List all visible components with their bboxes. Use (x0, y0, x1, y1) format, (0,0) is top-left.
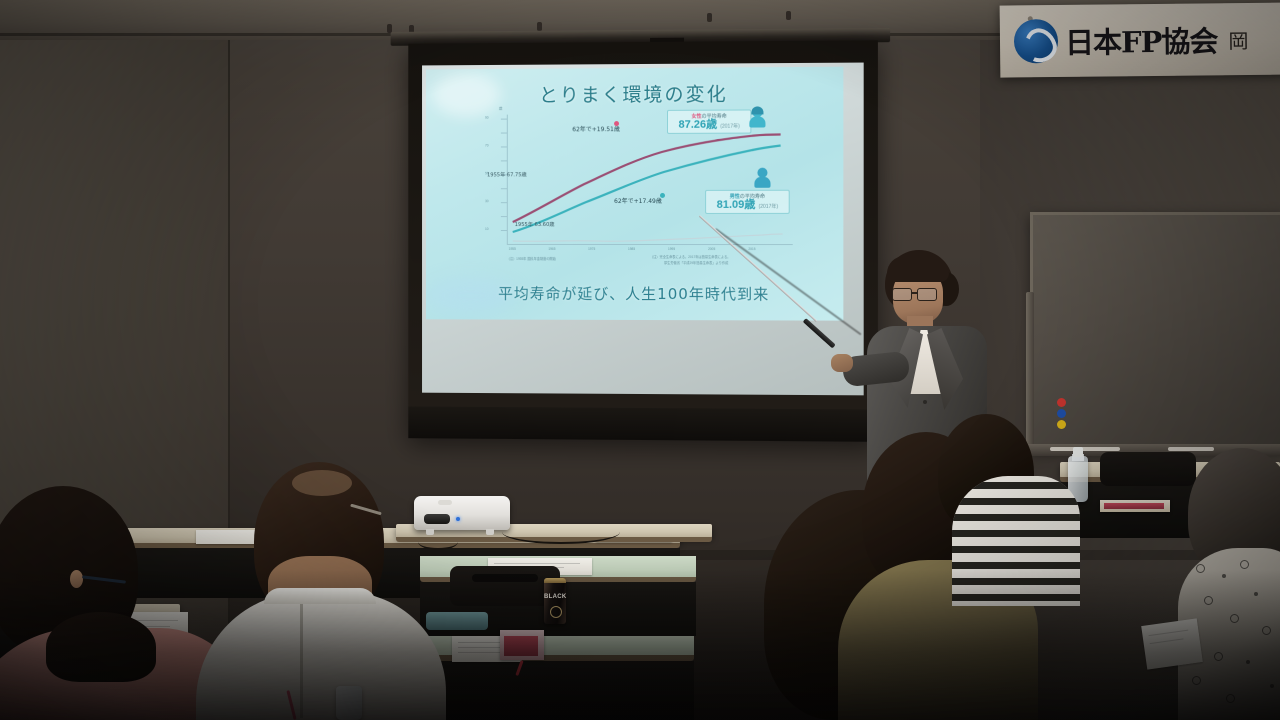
annotation-male-growth: 62年で+17.49歳 (614, 196, 662, 205)
callout-female-life-expectancy: 女性の平均寿命 87.26歳 (2017年) (667, 109, 751, 133)
projector-lid-vent (438, 500, 452, 505)
screen-frame: とりまく環境の変化 歳 90 70 (408, 40, 878, 442)
eyeglasses-icon (917, 288, 937, 301)
fp-association-logo-icon (1014, 19, 1058, 63)
projector-power-led-icon (456, 517, 460, 521)
projected-slide: とりまく環境の変化 歳 90 70 (426, 67, 843, 321)
chart-plot-area (493, 113, 793, 254)
male-person-icon (754, 168, 770, 188)
presenter-hand (831, 354, 853, 372)
screen-bottom-bar (408, 406, 878, 441)
chart-footnote-2: （注）完全生命表による。2017年は簡易生命表による。 (650, 254, 730, 259)
whiteboard-stand-post (1026, 292, 1034, 454)
callout-male-life-expectancy: 男性の平均寿命 81.09歳 (2017年) (705, 190, 790, 214)
banner-branch-name: 岡 (1228, 24, 1248, 53)
power-cable (418, 534, 458, 550)
whiteboard-marker-icon (1168, 447, 1214, 451)
presenter-fringe (887, 256, 949, 282)
fp-association-banner: 日本FP協会 岡 (1000, 2, 1280, 77)
chair (1100, 452, 1196, 486)
female-person-icon (749, 107, 765, 127)
series-male-line (513, 146, 781, 232)
banner-org-name: 日本FP協会 (1065, 18, 1218, 62)
slide-caption: 平均寿命が延び、人生100年時代到来 (426, 283, 843, 305)
chart-footnote-3: 厚生労働省「平成29年簡易生命表」より作成 (664, 260, 728, 265)
magnet-blue-icon (1057, 409, 1066, 418)
whiteboard (1030, 212, 1280, 450)
annotation-female-1955: 1955年 67.75歳 (487, 171, 527, 178)
whiteboard-marker-icon (1050, 447, 1120, 451)
life-expectancy-chart: 歳 90 70 50 30 10 (493, 113, 793, 254)
female-marker-icon (614, 121, 619, 126)
eyeglasses-bridge-icon (911, 292, 918, 294)
ceiling-hook-icon (707, 13, 712, 22)
chart-y-axis-title: 歳 (499, 107, 503, 112)
series-reference-line (513, 234, 783, 241)
annotation-male-1955: 1955年 63.60歳 (515, 221, 555, 228)
floor-shadow (0, 570, 1280, 720)
callout-male-value: 81.09歳 (2017年) (710, 200, 785, 211)
presenter-jacket-button (923, 400, 927, 404)
magnet-yellow-icon (1057, 420, 1066, 429)
projector-cable (502, 520, 620, 544)
annotation-female-growth: 62年で+19.51歳 (572, 124, 620, 133)
seminar-room-photo: 日本FP協会 岡 とりまく環境の変化 歳 (0, 0, 1280, 720)
slide-title: とりまく環境の変化 (426, 79, 843, 108)
male-marker-icon (660, 193, 665, 198)
projector (414, 496, 510, 530)
bald-spot (292, 470, 352, 496)
chart-footnote-1: （注）1955年 国民年金制度の開始 (507, 256, 556, 261)
ceiling-hook-icon (786, 11, 791, 20)
callout-female-value: 87.26歳 (2017年) (672, 120, 746, 131)
eyeglasses-icon (892, 288, 912, 301)
ceiling-hook-icon (537, 22, 542, 31)
projection-screen: とりまく環境の変化 歳 90 70 (408, 28, 878, 442)
magnet-red-icon (1057, 398, 1066, 407)
booklet-cover (1104, 503, 1164, 509)
projector-lens-icon (424, 514, 450, 524)
